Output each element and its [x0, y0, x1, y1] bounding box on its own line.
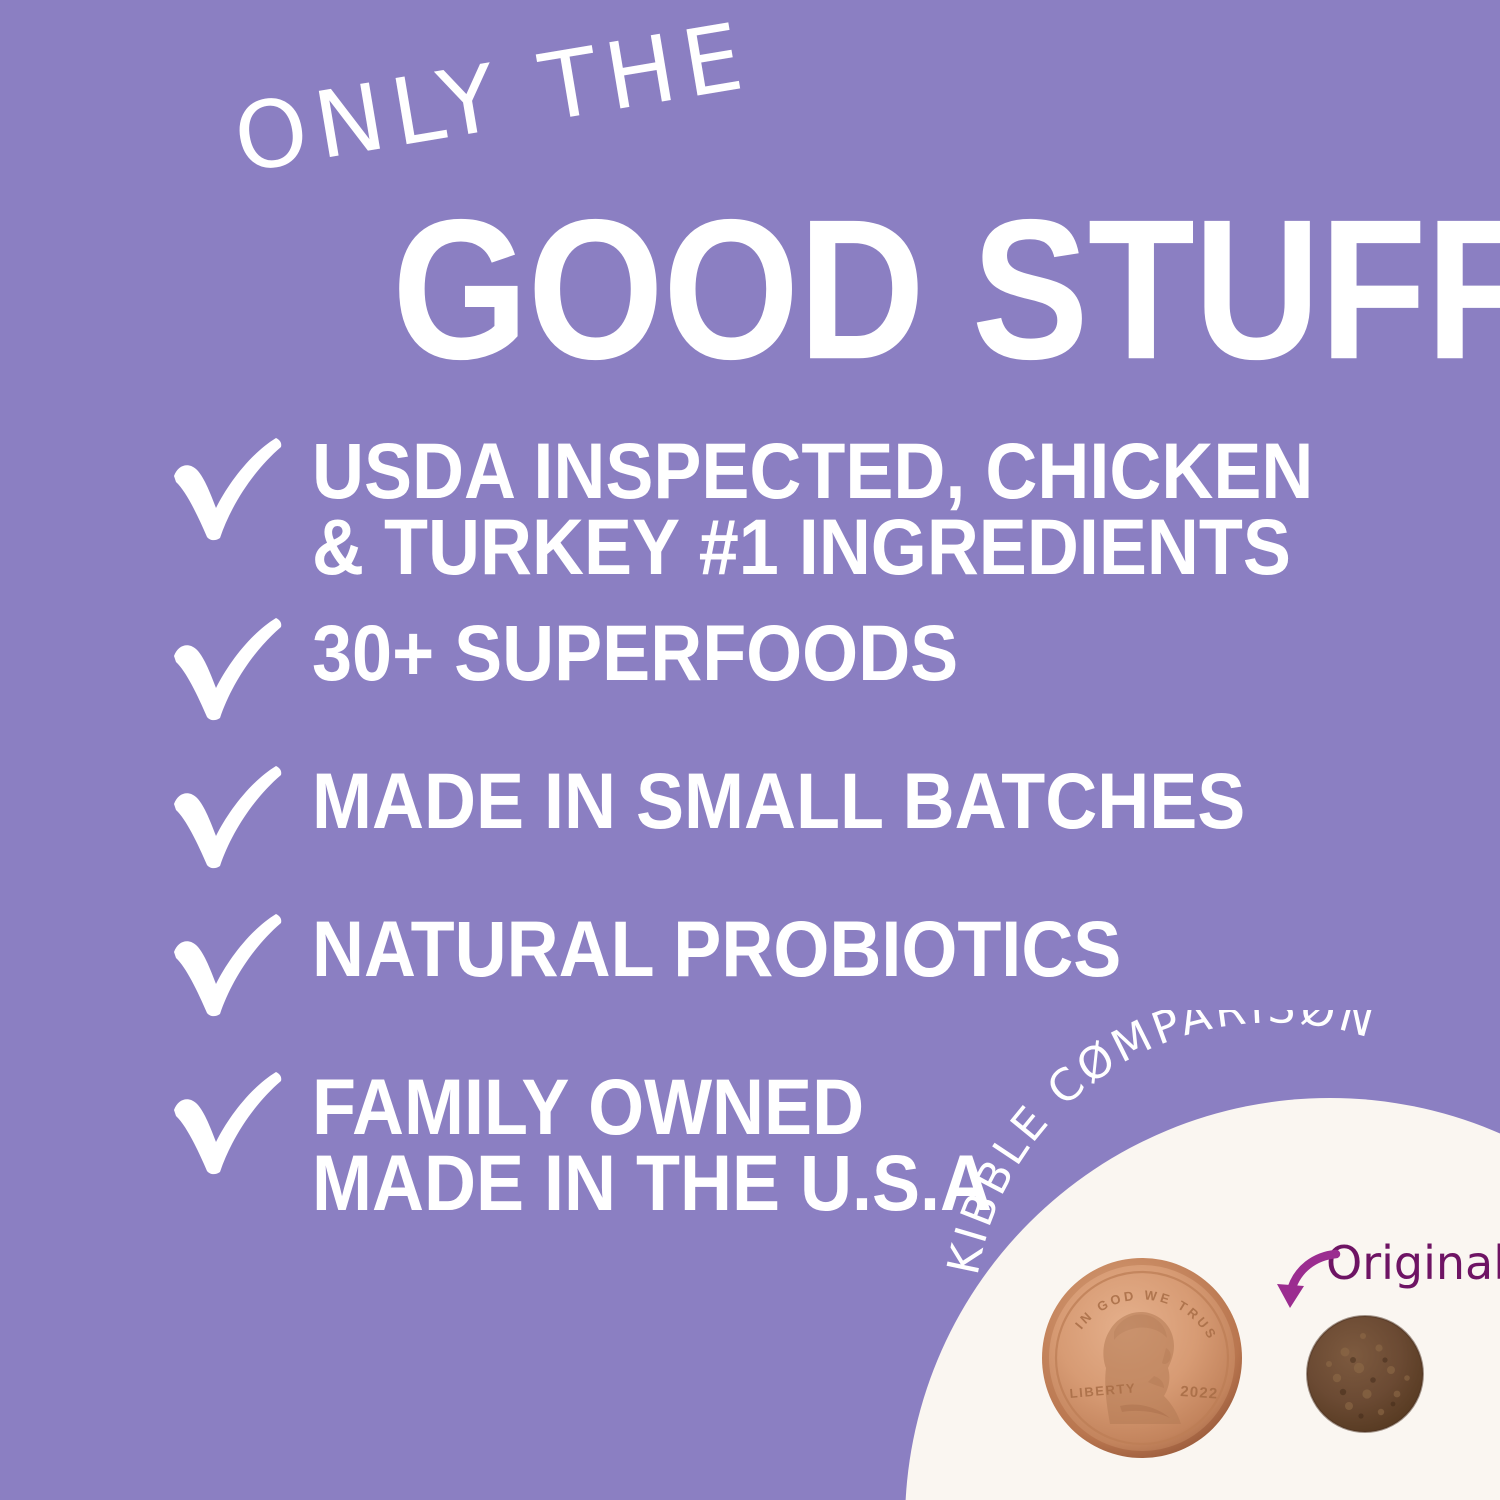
- list-item-label: 30+ SUPERFOODS: [312, 614, 1280, 692]
- kibble-piece-image: [1303, 1312, 1427, 1436]
- list-item-label: MADE IN SMALL BATCHES: [312, 762, 1280, 840]
- penny-image: IN GOD WE TRUST LIBERTY 2022: [1040, 1256, 1244, 1460]
- list-item-line: 30+ SUPERFOODS: [312, 616, 1280, 692]
- list-item: MADE IN SMALL BATCHES: [160, 762, 1280, 858]
- headline-line-2: GOOD STUFF:: [392, 190, 1500, 390]
- list-item: 30+ SUPERFOODS: [160, 614, 1280, 710]
- check-icon: [160, 762, 312, 858]
- list-item-label: USDA INSPECTED, CHICKEN & TURKEY #1 INGR…: [312, 432, 1313, 586]
- list-item-line: MADE IN SMALL BATCHES: [312, 764, 1280, 840]
- list-item-line: NATURAL PROBIOTICS: [312, 912, 1280, 988]
- list-item-line: & TURKEY #1 INGREDIENTS: [312, 510, 1313, 586]
- list-item: NATURAL PROBIOTICS: [160, 910, 1280, 1006]
- original-kibble-label: Original: [1326, 1240, 1500, 1286]
- list-item-label: NATURAL PROBIOTICS: [312, 910, 1280, 988]
- check-icon: [160, 614, 312, 710]
- penny-year-text: 2022: [1180, 1383, 1219, 1403]
- list-item-line: FAMILY OWNED: [312, 1070, 1280, 1146]
- list-item-line: USDA INSPECTED, CHICKEN: [312, 434, 1313, 510]
- product-feature-graphic: ONLY THE GOOD STUFF: USDA INSPECTED, CHI…: [0, 0, 1500, 1500]
- list-item: USDA INSPECTED, CHICKEN & TURKEY #1 INGR…: [160, 432, 1280, 572]
- check-icon: [160, 432, 312, 528]
- feature-list: USDA INSPECTED, CHICKEN & TURKEY #1 INGR…: [160, 432, 1280, 1250]
- check-icon: [160, 1068, 312, 1164]
- curved-arrow-icon: [1270, 1246, 1344, 1324]
- headline-line-1: ONLY THE: [228, 10, 757, 187]
- headline-block: ONLY THE GOOD STUFF:: [0, 0, 1500, 400]
- check-icon: [160, 910, 312, 1006]
